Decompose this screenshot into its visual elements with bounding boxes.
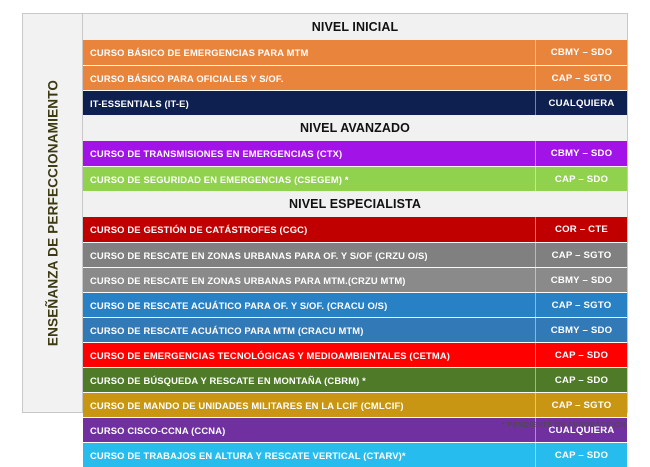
course-rank: CBMY – SDO <box>535 40 627 65</box>
course-rank: CAP – SGTO <box>535 243 627 267</box>
table-row: CURSO BÁSICO DE EMERGENCIAS PARA MTMCBMY… <box>83 40 627 65</box>
table-row: CURSO DE TRABAJOS EN ALTURA Y RESCATE VE… <box>83 442 627 467</box>
course-name: CURSO DE RESCATE ACUÁTICO PARA MTM (CRAC… <box>83 318 535 342</box>
section-band-2: NIVEL AVANZADO <box>83 115 627 141</box>
course-rank: COR – CTE <box>535 217 627 242</box>
course-rank: CAP – SDO <box>535 343 627 367</box>
course-name: CURSO DE TRANSMISIONES EN EMERGENCIAS (C… <box>83 141 535 166</box>
course-name: CURSO DE TRABAJOS EN ALTURA Y RESCATE VE… <box>83 443 535 467</box>
course-rank: CAP – SGTO <box>535 293 627 317</box>
course-name: CURSO DE EMERGENCIAS TECNOLÓGICAS Y MEDI… <box>83 343 535 367</box>
course-name: CURSO DE RESCATE EN ZONAS URBANAS PARA M… <box>83 268 535 292</box>
section-band-1: NIVEL INICIAL <box>83 14 627 40</box>
table-row: CURSO DE SEGURIDAD EN EMERGENCIAS (CSEGE… <box>83 166 627 191</box>
course-rank: CBMY – SDO <box>535 268 627 292</box>
course-rank: CAP – SGTO <box>535 393 627 417</box>
vertical-header-label: ENSEÑANZA DE PERFECCIONAMIENTO <box>45 80 60 346</box>
table-row: CURSO DE RESCATE ACUÁTICO PARA MTM (CRAC… <box>83 317 627 342</box>
course-rank: CAP – SDO <box>535 443 627 467</box>
course-rank: CAP – SDO <box>535 368 627 392</box>
course-rank: CBMY – SDO <box>535 141 627 166</box>
table-row: CURSO DE BÚSQUEDA Y RESCATE EN MONTAÑA (… <box>83 367 627 392</box>
course-rank: CAP – SGTO <box>535 66 627 90</box>
vertical-header-cell: ENSEÑANZA DE PERFECCIONAMIENTO <box>23 14 83 412</box>
table-row: CURSO DE MANDO DE UNIDADES MILITARES EN … <box>83 392 627 417</box>
table-row: CURSO DE EMERGENCIAS TECNOLÓGICAS Y MEDI… <box>83 342 627 367</box>
course-name: CURSO BÁSICO DE EMERGENCIAS PARA MTM <box>83 40 535 65</box>
course-name: IT-ESSENTIALS (IT-E) <box>83 91 535 115</box>
course-rank: CAP – SDO <box>535 167 627 191</box>
course-rank: CUALQUIERA <box>535 91 627 115</box>
table-row: CURSO BÁSICO PARA OFICIALES Y S/OF.CAP –… <box>83 65 627 90</box>
table-row: CURSO DE RESCATE EN ZONAS URBANAS PARA O… <box>83 242 627 267</box>
table-row: CURSO DE GESTIÓN DE CATÁSTROFES (CGC)COR… <box>83 217 627 242</box>
course-name: CURSO DE RESCATE EN ZONAS URBANAS PARA O… <box>83 243 535 267</box>
course-rank: CBMY – SDO <box>535 318 627 342</box>
table-row: CURSO DE RESCATE ACUÁTICO PARA OF. Y S/O… <box>83 292 627 317</box>
footnote-text: * PENDIENTE DE APROBACCIÓN <box>502 420 626 429</box>
course-name: CURSO CISCO-CCNA (CCNA) <box>83 418 535 442</box>
course-name: CURSO DE GESTIÓN DE CATÁSTROFES (CGC) <box>83 217 535 242</box>
course-table: ENSEÑANZA DE PERFECCIONAMIENTO NIVEL INI… <box>22 13 628 413</box>
course-name: CURSO BÁSICO PARA OFICIALES Y S/OF. <box>83 66 535 90</box>
course-name: CURSO DE SEGURIDAD EN EMERGENCIAS (CSEGE… <box>83 167 535 191</box>
course-name: CURSO DE MANDO DE UNIDADES MILITARES EN … <box>83 393 535 417</box>
table-row: CURSO DE RESCATE EN ZONAS URBANAS PARA M… <box>83 267 627 292</box>
section-band-3: NIVEL ESPECIALISTA <box>83 191 627 217</box>
table-row: IT-ESSENTIALS (IT-E)CUALQUIERA <box>83 90 627 115</box>
course-name: CURSO DE RESCATE ACUÁTICO PARA OF. Y S/O… <box>83 293 535 317</box>
table-row: CURSO DE TRANSMISIONES EN EMERGENCIAS (C… <box>83 141 627 166</box>
table-body: NIVEL INICIALCURSO BÁSICO DE EMERGENCIAS… <box>83 14 627 412</box>
course-name: CURSO DE BÚSQUEDA Y RESCATE EN MONTAÑA (… <box>83 368 535 392</box>
diagram-root: ENSEÑANZA DE PERFECCIONAMIENTO NIVEL INI… <box>0 0 650 438</box>
